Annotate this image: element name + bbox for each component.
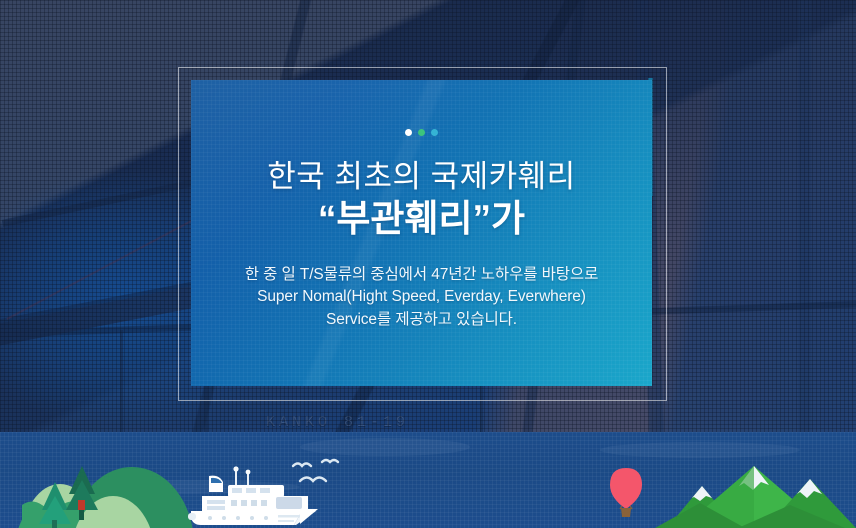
hero-card: 한국 최초의 국제카훼리 “부관훼리”가 한 중 일 T/S물류의 중심에서 4… [191, 80, 652, 386]
indicator-dots [405, 129, 438, 136]
sea-mesh-overlay [0, 432, 856, 528]
hero-subtitle: 한 중 일 T/S물류의 중심에서 47년간 노하우를 바탕으로 Super N… [245, 264, 599, 331]
indicator-dot-1 [405, 129, 412, 136]
ship-hull-text: KANKO 81-19 [266, 414, 409, 431]
hero-subtitle-line-3: Service를 제공하고 있습니다. [245, 309, 599, 331]
hero-title-line-1: 한국 최초의 국제카훼리 [267, 158, 575, 195]
indicator-dot-2 [418, 129, 425, 136]
hero-title-line-2: “부관훼리”가 [318, 197, 525, 241]
hero-subtitle-line-2: Super Nomal(Hight Speed, Everday, Everwh… [245, 286, 599, 308]
indicator-dot-3 [431, 129, 438, 136]
hero-banner-stage: KANKO 81-19 [0, 0, 856, 528]
sea-band [0, 432, 856, 528]
hero-subtitle-line-1: 한 중 일 T/S물류의 중심에서 47년간 노하우를 바탕으로 [245, 264, 599, 286]
